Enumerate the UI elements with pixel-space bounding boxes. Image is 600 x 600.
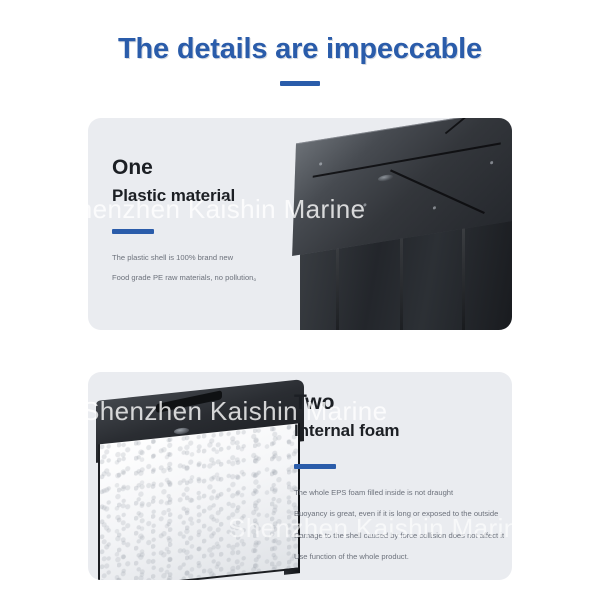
card-one-divider-accent xyxy=(112,229,154,234)
pontoon-groove xyxy=(313,142,501,177)
page-title: The details are impeccable xyxy=(0,33,600,66)
page-header: The details are impeccable xyxy=(0,0,600,108)
description-line: Damage to the shell caused by force coll… xyxy=(294,531,509,540)
feature-card-two: Two Internal foam The whole EPS foam fil… xyxy=(88,372,512,580)
description-line: The whole EPS foam filled inside is not … xyxy=(294,488,509,497)
description-line: The plastic shell is 100% brand new xyxy=(112,253,327,262)
pontoon-groove xyxy=(445,118,505,134)
description-line: Food grade PE raw materials, no pollutio… xyxy=(112,273,327,282)
card-two-text-block: Two Internal foam The whole EPS foam fil… xyxy=(294,391,509,573)
description-line: Use function of the whole product. xyxy=(294,552,509,561)
card-one-description: The plastic shell is 100% brand new Food… xyxy=(112,253,327,283)
card-two-description: The whole EPS foam filled inside is not … xyxy=(294,488,509,562)
description-line: Buoyancy is great, even if it is long or… xyxy=(294,509,509,518)
pontoon-bolt xyxy=(433,206,436,209)
card-two-index: Two xyxy=(294,391,509,415)
foam-shell-lip xyxy=(156,390,222,413)
pontoon-bolt xyxy=(490,161,493,164)
card-two-heading: Internal foam xyxy=(294,421,509,441)
pontoon-groove xyxy=(390,169,485,214)
title-underline-accent xyxy=(280,81,320,86)
pontoon-bolt xyxy=(363,203,366,206)
eps-foam-photo xyxy=(88,372,318,580)
product-detail-page: The details are impeccable One Plastic m… xyxy=(0,0,600,600)
card-one-index: One xyxy=(112,156,327,180)
card-one-text-block: One Plastic material The plastic shell i… xyxy=(112,156,327,294)
card-two-divider-accent xyxy=(294,464,336,469)
feature-card-one: One Plastic material The plastic shell i… xyxy=(88,118,512,330)
eps-foam-block xyxy=(98,423,298,580)
card-one-heading: Plastic material xyxy=(112,186,327,206)
